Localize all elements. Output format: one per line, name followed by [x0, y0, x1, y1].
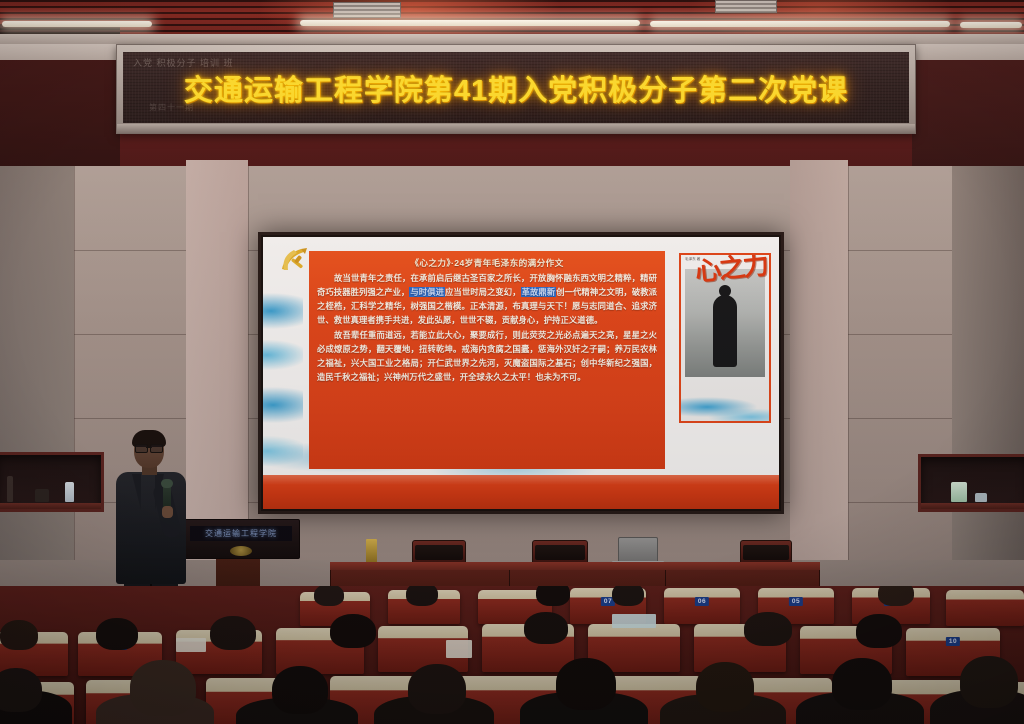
audience-head [856, 614, 902, 648]
wall-panel-far-right [952, 166, 1024, 586]
upper-wall-left [0, 60, 120, 170]
paragraph-1-part-b: 应当世时局之变幻， [445, 287, 521, 297]
audience-head [96, 618, 138, 650]
slide-paragraph-1: 故当世青年之责任，在承前启后继古圣百家之所长，开放胸怀融东西文明之精粹，精研奇巧… [317, 272, 657, 328]
audience-seating-area: 07 06 05 04 11 10 [0, 586, 1024, 724]
alcove-object [951, 482, 967, 502]
wall-seam [74, 166, 75, 586]
ceiling-vent [333, 2, 401, 18]
alcove-shelf [0, 503, 101, 509]
wall-column-left [186, 160, 248, 560]
audience-head [612, 586, 644, 606]
audience-head [330, 614, 376, 648]
led-banner-panel: 入党 积极分子 培训 班 第四十一期 交通运输工程学院第41期入党积极分子第二次… [123, 52, 909, 123]
seat-number: 05 [789, 597, 803, 606]
stage-chair [532, 540, 588, 564]
gold-trophy-icon [366, 539, 377, 564]
stage-chair [412, 540, 466, 564]
lecture-hall-scene: 入党 积极分子 培训 班 第四十一期 交通运输工程学院第41期入党积极分子第二次… [0, 0, 1024, 724]
chair-pad [535, 545, 585, 560]
alcove-object [7, 476, 13, 502]
banner-title: 交通运输工程学院第41期入党积极分子第二次党课 [123, 67, 909, 109]
screen-surface: 《心之力》·24岁青年毛泽东的满分作文 故当世青年之责任，在承前启后继古圣百家之… [263, 237, 779, 509]
podium-led-sign: 交通运输工程学院 [190, 526, 292, 541]
figure-body [713, 295, 737, 367]
alcove-object [35, 489, 49, 502]
seat-number: 06 [695, 597, 709, 606]
chair-pad [743, 545, 789, 560]
speaker-lapel-left [132, 474, 141, 510]
audience-head [408, 664, 466, 714]
slide-bottom-band [263, 475, 779, 509]
ceiling-light-tube [300, 20, 640, 26]
podium-emblem-icon [230, 546, 252, 556]
book-cover-title: 心之力 [694, 253, 768, 283]
eyeglasses-icon [135, 444, 163, 451]
seat[interactable]: 06 [664, 588, 740, 624]
slide-paragraph-2: 故吾辈任重而道远，若能立此大心，聚要成行，则此荧荧之光必点遍天之亮，星星之火必成… [317, 329, 657, 385]
led-banner-frame: 入党 积极分子 培训 班 第四十一期 交通运输工程学院第41期入党积极分子第二次… [116, 44, 916, 134]
book-cover-image: 毛泽东 著 心之力 [679, 253, 771, 423]
wall-alcove-left [0, 452, 104, 512]
ceiling-light-tube [650, 21, 950, 27]
audience-head [210, 616, 256, 650]
audience-head [0, 668, 42, 712]
wall-panel-far-left [0, 166, 74, 586]
wall-column-right [790, 160, 848, 560]
upper-wall-right [912, 60, 1024, 170]
audience-head [524, 612, 568, 644]
seat[interactable] [946, 590, 1024, 626]
book-cover-water [681, 377, 769, 421]
audience-head [314, 586, 344, 606]
chair-pad [415, 545, 463, 560]
audience-head [878, 586, 914, 606]
stage-chair [740, 540, 792, 564]
cpc-emblem-icon [277, 245, 311, 275]
paragraph-1-highlight-2: 革故鼎新 [521, 287, 557, 297]
ceiling-light-tube [2, 21, 152, 27]
audience-head [832, 658, 892, 710]
ceiling [0, 0, 1024, 46]
presentation-slide: 《心之力》·24岁青年毛泽东的满分作文 故当世青年之责任，在承前启后继古圣百家之… [263, 237, 779, 509]
audience-head [744, 612, 792, 646]
wall-alcove-right [918, 454, 1024, 512]
audience-head [130, 660, 196, 716]
audience-head [0, 620, 38, 650]
wall-seam [848, 166, 849, 586]
audience-head [556, 658, 616, 710]
slide-textbox: 《心之力》·24岁青年毛泽东的满分作文 故当世青年之责任，在承前启后继古圣百家之… [309, 251, 665, 469]
audience-head [960, 656, 1018, 708]
audience-head [696, 662, 754, 712]
audience-paper [446, 640, 472, 658]
audience-head [536, 586, 570, 606]
sanitizer-bottle [65, 482, 74, 502]
audience-head [406, 586, 438, 606]
eyeglasses-bridge [146, 447, 152, 448]
podium-sign-text: 交通运输工程学院 [205, 528, 277, 539]
slide-title: 《心之力》·24岁青年毛泽东的满分作文 [317, 257, 657, 269]
audience-paper [176, 638, 206, 652]
alcove-object [975, 493, 987, 502]
ceiling-light-tube [960, 22, 1022, 28]
paragraph-1-highlight-1: 与时俱进 [409, 287, 445, 297]
lectern-podium[interactable]: 交通运输工程学院 [182, 519, 300, 559]
seat-number: 10 [946, 637, 960, 646]
speaker-hand [162, 506, 173, 518]
laptop-screen[interactable] [618, 537, 658, 563]
alcove-shelf [921, 503, 1024, 509]
audience-head [272, 666, 328, 714]
projection-screen[interactable]: 《心之力》·24岁青年毛泽东的满分作文 故当世青年之责任，在承前启后继古圣百家之… [258, 232, 784, 514]
microphone-head [161, 479, 173, 488]
led-banner-base [117, 124, 915, 133]
ceiling-vent [715, 0, 777, 13]
audience-paper [612, 614, 656, 628]
